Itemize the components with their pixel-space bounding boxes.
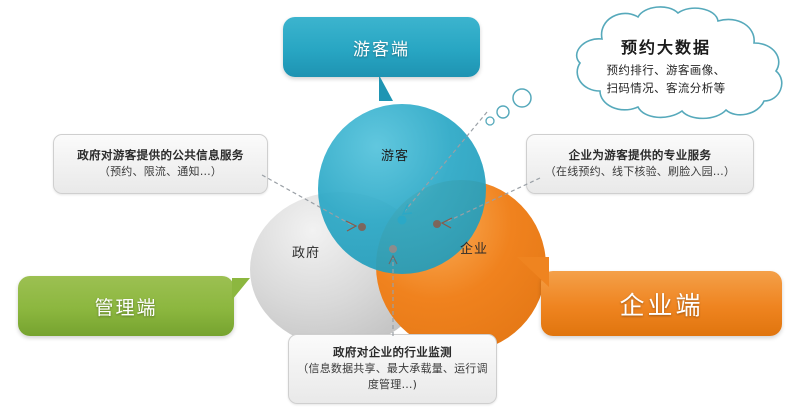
arrowhead-cloud-center [403, 204, 412, 214]
connector-lines [0, 0, 800, 415]
connector-gov-tourist [262, 175, 352, 225]
gov-ent-marker [389, 245, 397, 253]
connector-cloud-center [404, 112, 487, 212]
diagram-canvas: 游客 政府 企业 游客端 管理端 企业端 政府对游客提供 [0, 0, 800, 415]
connector-tourist-ent [446, 178, 540, 222]
triple-center-marker [398, 216, 407, 225]
gov-tourist-marker [358, 223, 366, 231]
arrowhead-gov-tourist [346, 221, 356, 231]
tourist-ent-marker [433, 220, 441, 228]
